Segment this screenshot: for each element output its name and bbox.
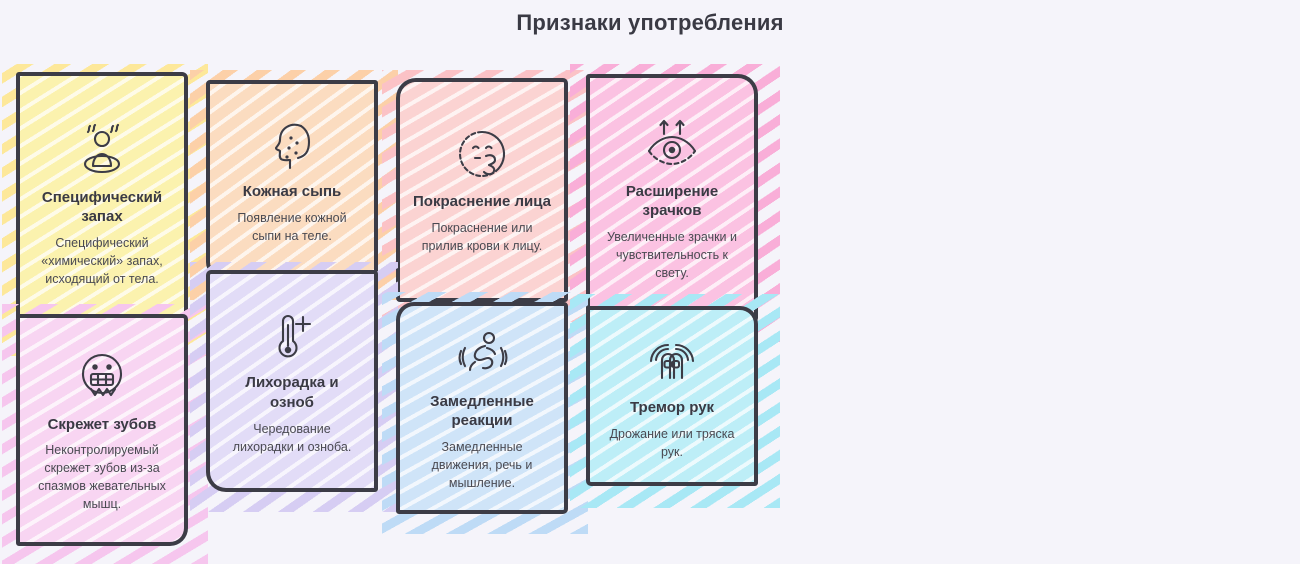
card-description: Появление кожной сыпи на теле. <box>222 210 362 246</box>
cards-board: Специфический запахСпецифический «химиче… <box>0 58 1300 546</box>
page-title: Признаки употребления <box>0 10 1300 36</box>
card-inner-texture <box>206 80 378 280</box>
head-rash-icon <box>261 116 323 174</box>
symptom-card-slowed-reactions[interactable]: Замедленные реакцииЗамедленные движения,… <box>396 302 568 514</box>
card-title: Замедленные реакции <box>412 392 552 432</box>
symptom-card-dilated-pupils[interactable]: Расширение зрачковУвеличенные зрачки и ч… <box>586 74 758 322</box>
card-description: Покраснение или прилив крови к лицу. <box>412 220 552 256</box>
slow-runner-icon <box>451 326 513 384</box>
symptom-card-specific-smell[interactable]: Специфический запахСпецифический «химиче… <box>16 72 188 336</box>
symptom-card-skin-rash[interactable]: Кожная сыпьПоявление кожной сыпи на теле… <box>206 80 378 280</box>
card-title: Покраснение лица <box>413 192 551 212</box>
card-title: Лихорадка и озноб <box>222 373 362 413</box>
blushing-face-icon <box>451 126 513 184</box>
card-title: Кожная сыпь <box>243 182 342 202</box>
card-description: Неконтролируемый скрежет зубов из-за спа… <box>32 442 172 513</box>
card-description: Чередование лихорадки и озноба. <box>222 421 362 457</box>
card-description: Специфический «химический» запах, исходя… <box>32 235 172 288</box>
symptom-card-teeth-grinding[interactable]: Скрежет зубовНеконтролируемый скрежет зу… <box>16 314 188 546</box>
symptom-card-fever-chills[interactable]: Лихорадка и ознобЧередование лихорадки и… <box>206 270 378 492</box>
shaking-hands-icon <box>641 332 703 390</box>
grinding-teeth-face-icon <box>71 349 133 407</box>
card-description: Увеличенные зрачки и чувствительность к … <box>602 229 742 282</box>
card-title: Скрежет зубов <box>48 415 157 435</box>
eye-arrows-icon <box>641 116 703 174</box>
card-inner-texture <box>396 78 568 302</box>
symptom-card-facial-redness[interactable]: Покраснение лицаПокраснение или прилив к… <box>396 78 568 302</box>
symptom-card-hand-tremor[interactable]: Тремор рукДрожание или тряска рук. <box>586 306 758 486</box>
card-title: Специфический запах <box>32 188 172 228</box>
card-title: Расширение зрачков <box>602 182 742 222</box>
card-description: Замедленные движения, речь и мышление. <box>412 439 552 492</box>
card-title: Тремор рук <box>630 398 714 418</box>
thermometer-plus-icon <box>261 307 323 365</box>
odor-person-icon <box>71 122 133 180</box>
card-description: Дрожание или тряска рук. <box>602 426 742 462</box>
